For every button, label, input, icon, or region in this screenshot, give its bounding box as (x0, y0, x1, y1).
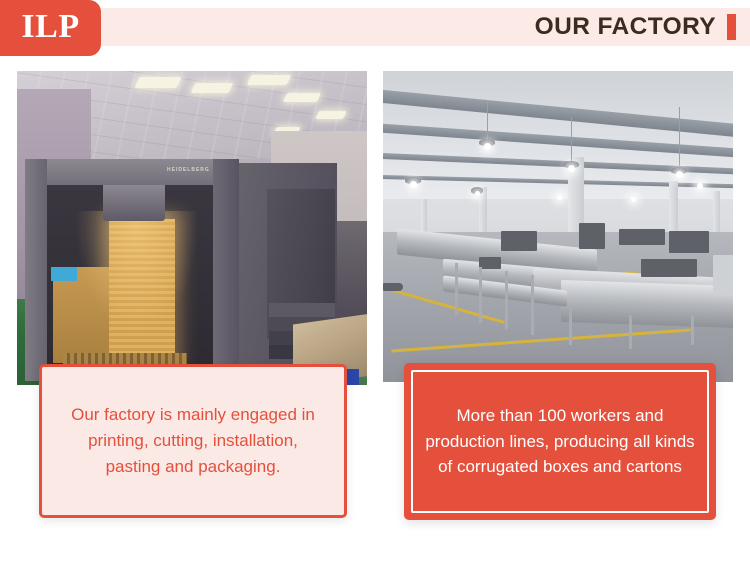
panel-production-line (383, 71, 733, 382)
control-panel (669, 231, 709, 253)
production-line (561, 280, 733, 328)
hall-light-icon (568, 165, 575, 172)
press-glow (77, 211, 197, 331)
pendant-cord (571, 117, 572, 165)
pendant-cord (679, 107, 680, 171)
caption-text: Our factory is mainly engaged in printin… (66, 402, 320, 479)
cabinet (713, 255, 733, 295)
machine-unit (579, 223, 605, 249)
ceiling-light-icon (134, 77, 181, 88)
ceiling-light-icon (315, 111, 347, 119)
machine-unit (619, 229, 665, 245)
factory-panels: HEIDELBERG (0, 0, 750, 584)
press-brand-label: HEIDELBERG (167, 167, 210, 173)
table-leg (691, 315, 694, 345)
table-leg (505, 271, 508, 329)
hall-light-icon (484, 143, 491, 150)
printing-press-workshop-photo: HEIDELBERG (17, 71, 367, 385)
panel-printing-press: HEIDELBERG (17, 71, 367, 385)
floor-object (383, 283, 403, 291)
ceiling-light-icon (191, 83, 234, 93)
table-leg (531, 275, 534, 335)
table-leg (629, 315, 632, 349)
ceiling-light-icon (283, 93, 321, 102)
hall-light-icon (557, 195, 562, 200)
caption-card-production: More than 100 workers and production lin… (404, 363, 716, 520)
hall-light-icon (410, 181, 417, 188)
pendant-cord (487, 101, 488, 143)
machine-unit (501, 231, 537, 251)
table-leg (569, 305, 572, 345)
press-frame-left (25, 159, 47, 381)
blue-crate (51, 267, 77, 281)
caption-text: More than 100 workers and production lin… (422, 403, 698, 480)
machine-unit (479, 257, 501, 269)
hall-light-icon (475, 191, 480, 196)
press-frame-right (213, 159, 239, 381)
ceiling-light-icon (247, 75, 292, 85)
table-leg (479, 267, 482, 323)
machine-unit (641, 259, 697, 277)
hall-light-icon (697, 183, 703, 189)
hall-light-icon (631, 197, 636, 202)
press-head (103, 183, 165, 221)
production-line-hall-photo (383, 71, 733, 382)
hall-light-icon (676, 171, 683, 178)
caption-card-printing: Our factory is mainly engaged in printin… (39, 364, 347, 518)
table-leg (455, 263, 458, 315)
